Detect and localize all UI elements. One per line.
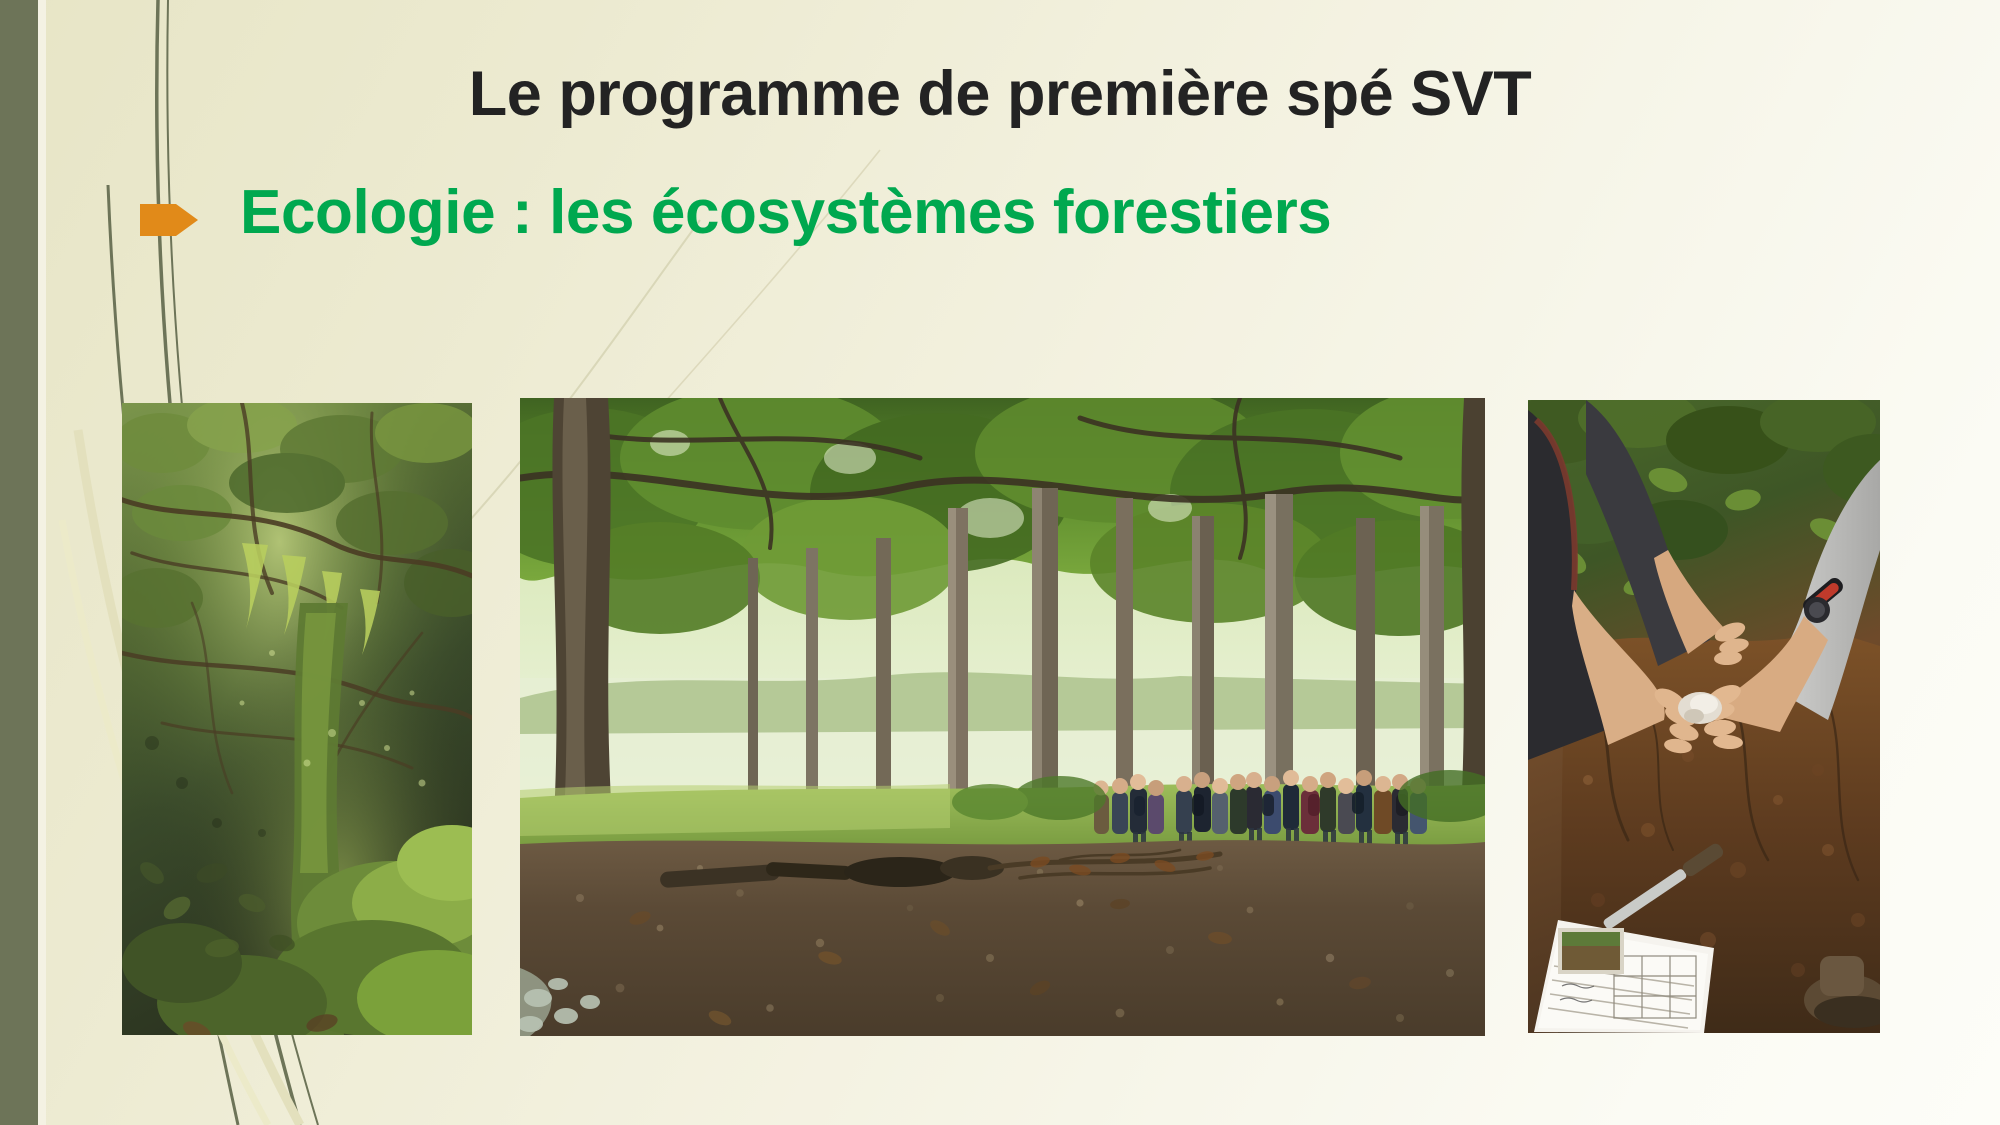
left-accent-bar-gap	[38, 0, 46, 1125]
subtitle-row: Ecologie : les écosystèmes forestiers	[140, 180, 1331, 245]
slide-subtitle: Ecologie : les écosystèmes forestiers	[240, 180, 1331, 245]
orange-arrow-bullet-icon	[140, 200, 198, 240]
left-accent-bar	[0, 0, 38, 1125]
slide-canvas: Le programme de première spé SVT Ecologi…	[0, 0, 2000, 1125]
slide-title: Le programme de première spé SVT	[0, 58, 2000, 130]
photo-left	[122, 403, 472, 1035]
photo-right	[1528, 400, 1880, 1033]
photo-center	[520, 398, 1485, 1036]
